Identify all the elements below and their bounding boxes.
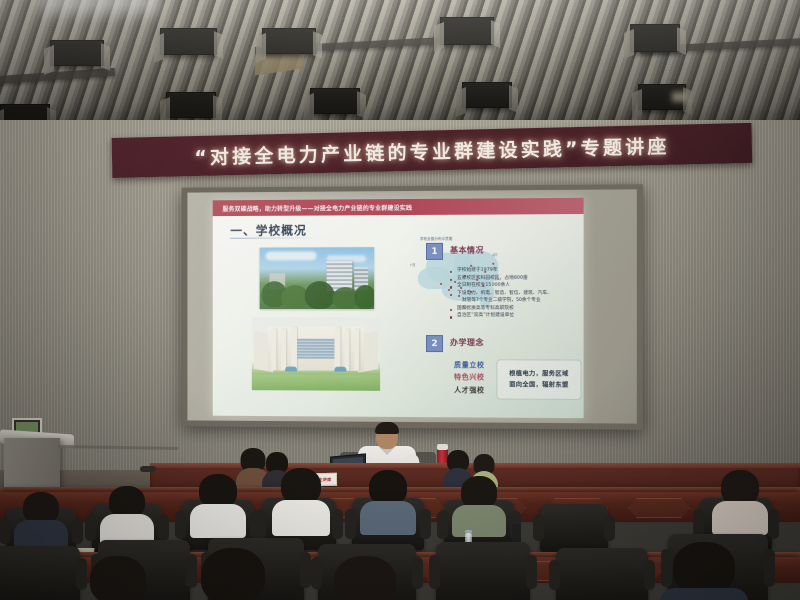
slide-header-text: 服务双碳战略，助力转型升级——对接全电力产业链的专业群建设实践 <box>222 202 412 212</box>
photo-tree <box>305 281 335 309</box>
person-body <box>660 588 748 600</box>
photo-tree <box>354 285 374 309</box>
audience-person <box>360 470 416 532</box>
photo-cloud <box>266 251 317 260</box>
slide-pillar: 特色兴校 <box>454 371 485 383</box>
audience-chair <box>436 542 530 600</box>
slide-bullet: 国家优质高等专科高职院校 <box>450 305 582 313</box>
slide-header-bar: 服务双碳战略，助力转型升级——对接全电力产业链的专业群建设实践 <box>213 198 584 216</box>
building-glass-facade <box>297 339 335 359</box>
audience-person <box>14 492 68 544</box>
slide-motto-line: 面向全国，辐射东盟 <box>509 379 568 391</box>
ceiling-shading <box>0 0 800 132</box>
black-tumbler <box>512 524 521 544</box>
slide-pillar: 人才强校 <box>454 384 485 396</box>
slide-bullet-continuation: 财管等7个专业二级学院，50余个专业 <box>450 297 582 305</box>
slide-section-1-heading: 基本情况 <box>450 245 484 256</box>
person-body <box>190 504 246 538</box>
person-head <box>90 556 146 600</box>
slide-motto-box: 根植电力，服务区域 面向全国，辐射东盟 <box>496 359 581 400</box>
building-column <box>344 329 349 371</box>
audience-person <box>712 470 768 532</box>
person-head <box>199 474 237 508</box>
slide-section-2-number: 2 <box>426 335 443 352</box>
ceiling <box>0 0 800 132</box>
presentation-slide: 服务双碳战略，助力转型升级——对接全电力产业链的专业群建设实践 一、学校概况 <box>213 198 584 418</box>
slide-bullet: 下设电力、机电、智造、智信、建筑、汽车、 <box>450 290 582 298</box>
building-photo <box>252 317 380 391</box>
person-head <box>201 548 265 600</box>
slide-section-2-heading: 办学理念 <box>450 337 484 348</box>
audience-chair <box>540 504 608 552</box>
building-column <box>354 329 359 371</box>
person-body <box>452 505 506 537</box>
building-column <box>281 329 286 371</box>
slide-section-1-number: 1 <box>426 243 443 260</box>
audience-chair <box>556 548 648 600</box>
map-marker <box>492 263 494 265</box>
audience-person <box>452 476 506 534</box>
event-banner-text: “对接全电力产业链的专业群建设实践”专题讲座 <box>194 131 670 169</box>
water-bottle-cap <box>465 530 472 533</box>
desk-microphone <box>140 466 156 472</box>
building-canopy <box>334 367 346 372</box>
building-lawn <box>252 374 380 391</box>
building-column <box>271 329 276 371</box>
projection-screen-frame: 服务双碳战略，助力转型升级——对接全电力产业链的专业群建设实践 一、学校概况 <box>182 184 643 430</box>
person-head <box>334 556 396 600</box>
slide-title-underline <box>230 237 320 238</box>
audience-person <box>190 474 246 534</box>
slide-pillar: 质量立校 <box>454 359 485 371</box>
audience-person <box>190 548 276 600</box>
china-map-caption: 学校全国分布示意图 <box>420 237 452 242</box>
slide-title: 一、学校概况 <box>230 222 307 239</box>
person-head <box>369 470 407 505</box>
slide-bullet: 自治区“双高”计划建设单位 <box>450 312 582 320</box>
map-label: 广西 <box>410 263 415 267</box>
audience-person <box>272 468 330 532</box>
audience-person <box>100 486 154 540</box>
person-body <box>272 500 330 536</box>
building-canopy <box>285 367 297 372</box>
slide-pillars: 质量立校 特色兴校 人才强校 <box>454 359 485 396</box>
audience-chair <box>0 546 80 600</box>
campus-photo <box>260 247 374 309</box>
projection-screen: 服务双碳战略，助力转型升级——对接全电力产业链的专业群建设实践 一、学校概况 <box>187 189 636 423</box>
slide-bullet: 全日制在校生15000余人 <box>450 282 582 290</box>
person-head <box>673 542 735 594</box>
map-label: 北京 <box>492 253 497 257</box>
desk-panel-ornament <box>628 498 690 518</box>
speaker-hair <box>375 422 399 434</box>
map-marker <box>440 283 442 285</box>
person-body <box>712 501 768 535</box>
audience-person <box>322 556 408 600</box>
person-body <box>360 501 416 535</box>
audience-person <box>80 556 156 600</box>
slide-motto-line: 根植电力，服务区域 <box>509 368 568 379</box>
building-column <box>334 327 340 371</box>
lecture-hall-photo: “对接全电力产业链的专业群建设实践”专题讲座 服务双碳战略，助力转型升级——对接… <box>0 0 800 600</box>
slide-bullet: 五象校区和科园校区，占地800亩 <box>450 274 582 282</box>
slide-section-1-bullets: 学校始建于1979年 五象校区和科园校区，占地800亩 全日制在校生15000余… <box>450 267 582 321</box>
map-region <box>418 267 450 289</box>
audience-person <box>660 542 748 600</box>
person-head <box>281 468 321 504</box>
person-head <box>721 470 759 505</box>
